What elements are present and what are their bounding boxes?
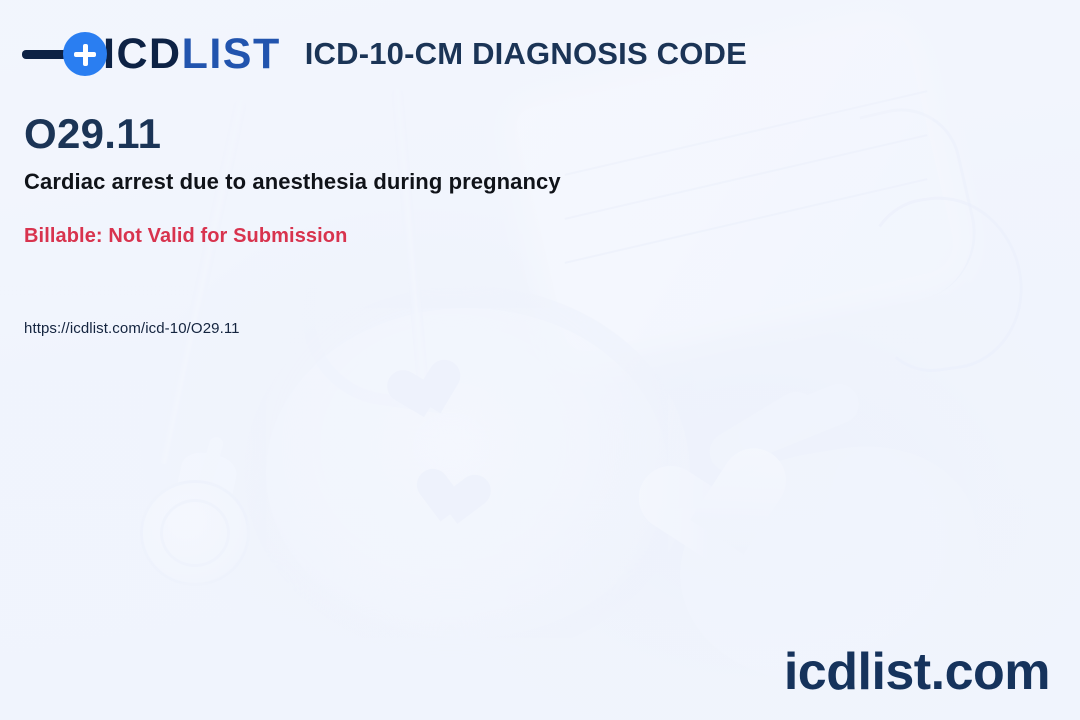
billable-status-badge: Billable: Not Valid for Submission	[24, 224, 347, 248]
logo-word-icd: ICD	[103, 30, 182, 78]
icdlist-logo[interactable]: ICDLIST	[22, 28, 281, 80]
header: ICDLIST ICD-10-CM DIAGNOSIS CODE	[22, 28, 747, 80]
page-title: ICD-10-CM DIAGNOSIS CODE	[305, 36, 747, 72]
code-url-link[interactable]: https://icdlist.com/icd-10/O29.11	[24, 320, 240, 338]
card-content: ICDLIST ICD-10-CM DIAGNOSIS CODE O29.11 …	[0, 0, 1080, 720]
icd-code-card: ICDLIST ICD-10-CM DIAGNOSIS CODE O29.11 …	[0, 0, 1080, 720]
diagnosis-code: O29.11	[24, 113, 161, 155]
diagnosis-description: Cardiac arrest due to anesthesia during …	[24, 168, 561, 196]
site-watermark: icdlist.com	[784, 646, 1050, 698]
plus-vertical-bar	[83, 44, 88, 66]
plus-circle-icon	[63, 32, 107, 76]
logo-wordmark: ICDLIST	[103, 33, 281, 76]
logo-word-list: LIST	[182, 30, 281, 78]
